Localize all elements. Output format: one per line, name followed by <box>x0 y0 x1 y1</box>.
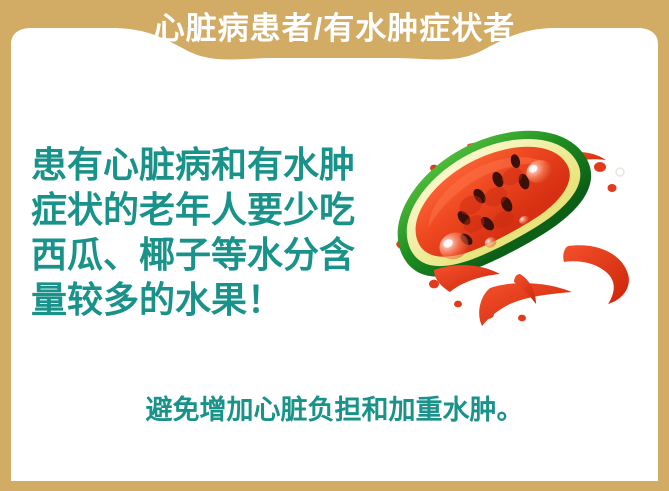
main-message: 患有心脏病和有水肿 症状的老年人要少吃 西瓜、椰子等水分含 量较多的水果！ <box>31 142 361 322</box>
poster-card: 心脏病患者/有水肿症状者 <box>0 0 669 491</box>
main-message-line-4: 量较多的水果！ <box>31 277 361 322</box>
footer-message: 避免增加心脏负担和加重水肿。 <box>0 392 669 428</box>
page-title: 心脏病患者/有水肿症状者 <box>0 8 669 50</box>
main-message-line-1: 患有心脏病和有水肿 <box>31 142 361 187</box>
main-message-line-2: 症状的老年人要少吃 <box>31 187 361 232</box>
watermelon-illustration <box>372 128 644 328</box>
main-message-line-3: 西瓜、椰子等水分含 <box>31 232 361 277</box>
watermelon-icon <box>372 128 644 328</box>
